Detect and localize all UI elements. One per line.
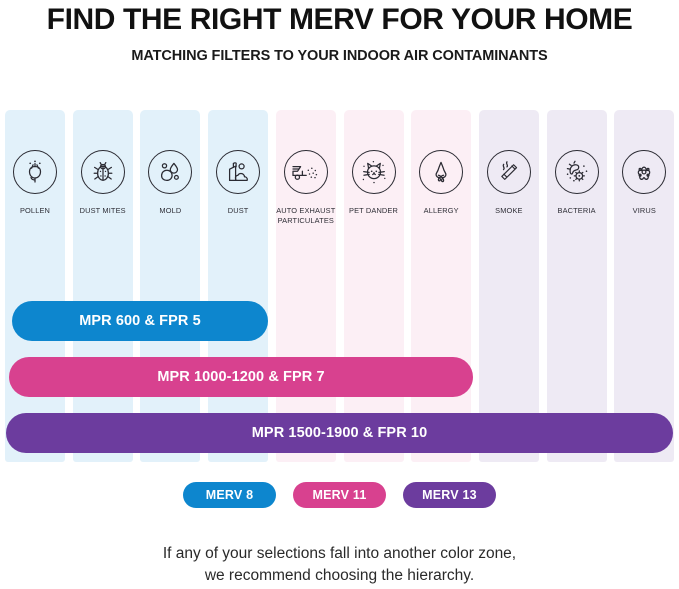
- mpr-bar-merv8: MPR 600 & FPR 5: [12, 301, 268, 341]
- contaminant-label: DUST: [204, 206, 272, 216]
- virus-icon: [622, 150, 666, 194]
- mpr-bar-merv11: MPR 1000-1200 & FPR 7: [9, 357, 473, 397]
- dust-mite-bug-icon: [81, 150, 125, 194]
- flower-pollen-icon: [13, 150, 57, 194]
- contaminant-label: PET DANDER: [340, 206, 408, 216]
- contaminant-label: BACTERIA: [543, 206, 611, 216]
- legend-pill-merv13: MERV 13: [403, 482, 496, 508]
- contaminant-column-mold: MOLD: [140, 110, 200, 462]
- mold-spores-icon: [148, 150, 192, 194]
- merv-legend: MERV 8 MERV 11 MERV 13: [0, 482, 679, 508]
- contaminant-label: SMOKE: [475, 206, 543, 216]
- contaminant-label: ALLERGY: [407, 206, 475, 216]
- contaminant-column-virus: VIRUS: [614, 110, 674, 462]
- contaminant-column-pet-dander: PET DANDER: [344, 110, 404, 462]
- contaminant-column-bacteria: BACTERIA: [547, 110, 607, 462]
- mpr-bar-merv13: MPR 1500-1900 & FPR 10: [6, 413, 673, 453]
- footer-line-1: If any of your selections fall into anot…: [0, 543, 679, 565]
- footer-line-2: we recommend choosing the hierarchy.: [0, 565, 679, 587]
- contaminant-label: DUST MITES: [69, 206, 137, 216]
- contaminant-column-pollen: POLLEN: [5, 110, 65, 462]
- footer-note: If any of your selections fall into anot…: [0, 543, 679, 587]
- legend-pill-merv8: MERV 8: [183, 482, 276, 508]
- legend-pill-merv11: MERV 11: [293, 482, 386, 508]
- contaminant-column-smoke: SMOKE: [479, 110, 539, 462]
- dust-furniture-icon: [216, 150, 260, 194]
- page-subtitle: MATCHING FILTERS TO YOUR INDOOR AIR CONT…: [0, 48, 679, 64]
- car-exhaust-icon: [284, 150, 328, 194]
- contaminant-label: MOLD: [136, 206, 204, 216]
- contaminant-columns: POLLEN DUST MITES MOLD: [5, 110, 674, 462]
- page-title: FIND THE RIGHT MERV FOR YOUR HOME: [0, 3, 679, 37]
- contaminant-column-dust: DUST: [208, 110, 268, 462]
- bacteria-icon: [555, 150, 599, 194]
- contaminant-label: POLLEN: [1, 206, 69, 216]
- infographic-page: FIND THE RIGHT MERV FOR YOUR HOME MATCHI…: [0, 0, 679, 589]
- contaminant-column-allergy: ALLERGY: [411, 110, 471, 462]
- nose-drip-icon: [419, 150, 463, 194]
- contaminant-label: AUTO EXHAUST PARTICULATES: [272, 206, 340, 226]
- contaminant-column-dust-mites: DUST MITES: [73, 110, 133, 462]
- cigarette-smoke-icon: [487, 150, 531, 194]
- contaminant-label: VIRUS: [610, 206, 678, 216]
- contaminant-column-auto-exhaust-particulates: AUTO EXHAUST PARTICULATES: [276, 110, 336, 462]
- cat-face-icon: [352, 150, 396, 194]
